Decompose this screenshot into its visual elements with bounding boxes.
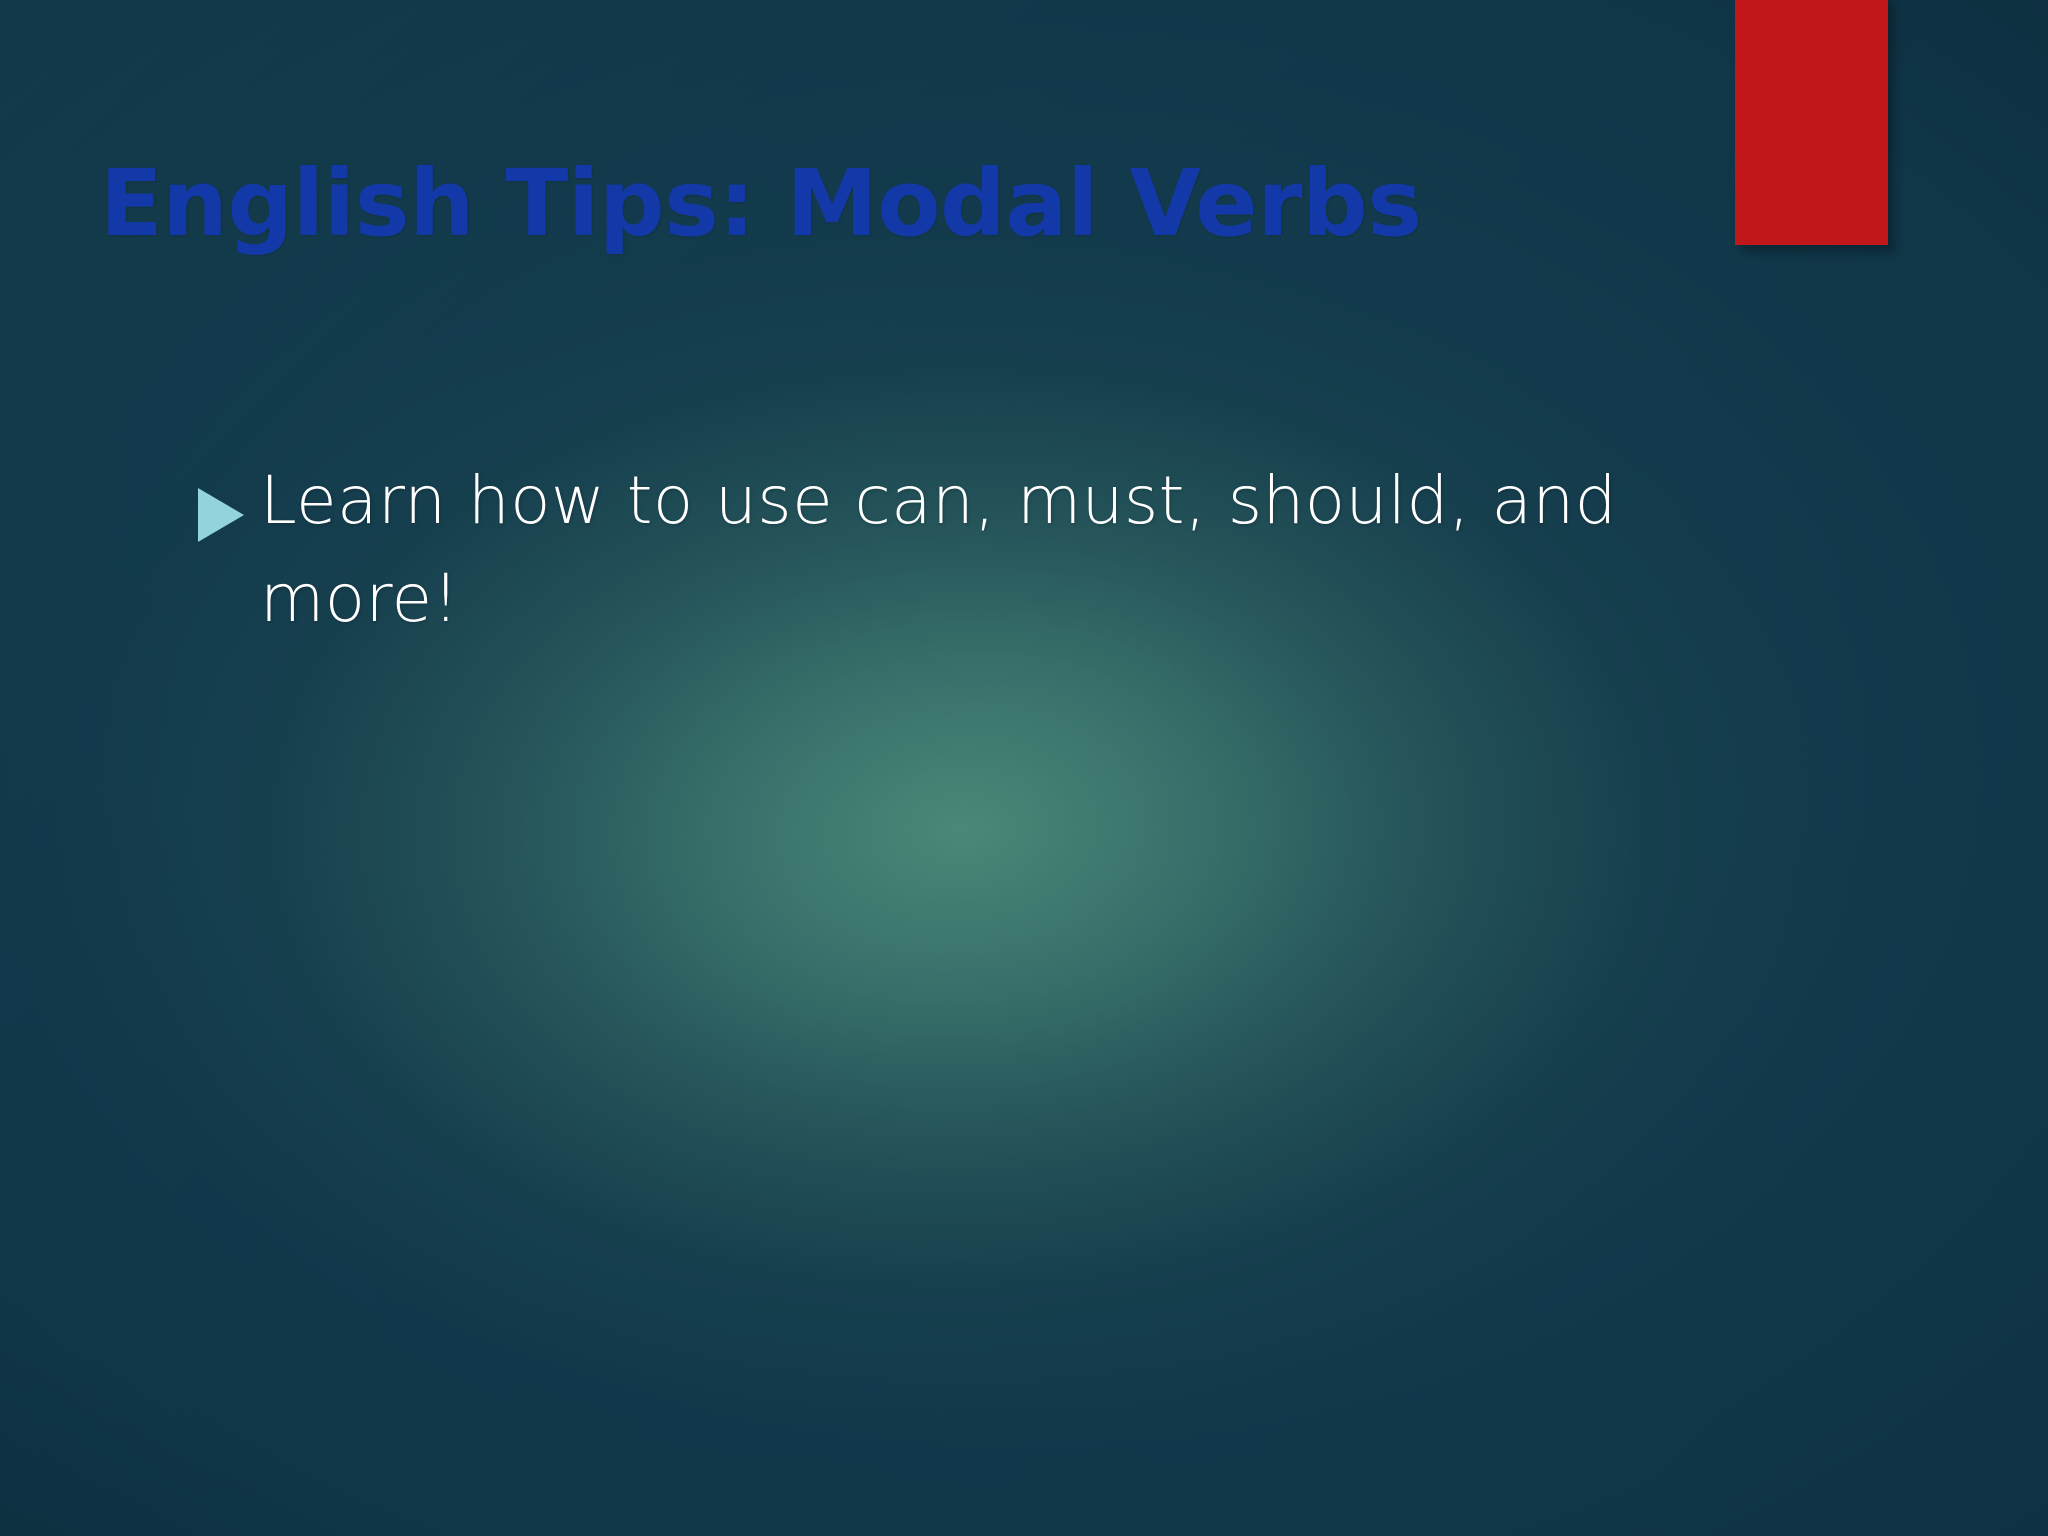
red-accent-rectangle (1735, 0, 1888, 245)
triangle-right-bullet-icon (196, 486, 248, 544)
slide-title: English Tips: Modal Verbs (100, 154, 1660, 253)
list-item-label: Learn how to use can, must, should, and … (260, 452, 1816, 647)
slide-body: Learn how to use can, must, should, and … (196, 452, 1816, 647)
list-item: Learn how to use can, must, should, and … (196, 452, 1816, 647)
presentation-slide: English Tips: Modal Verbs Learn how to u… (0, 0, 2048, 1536)
